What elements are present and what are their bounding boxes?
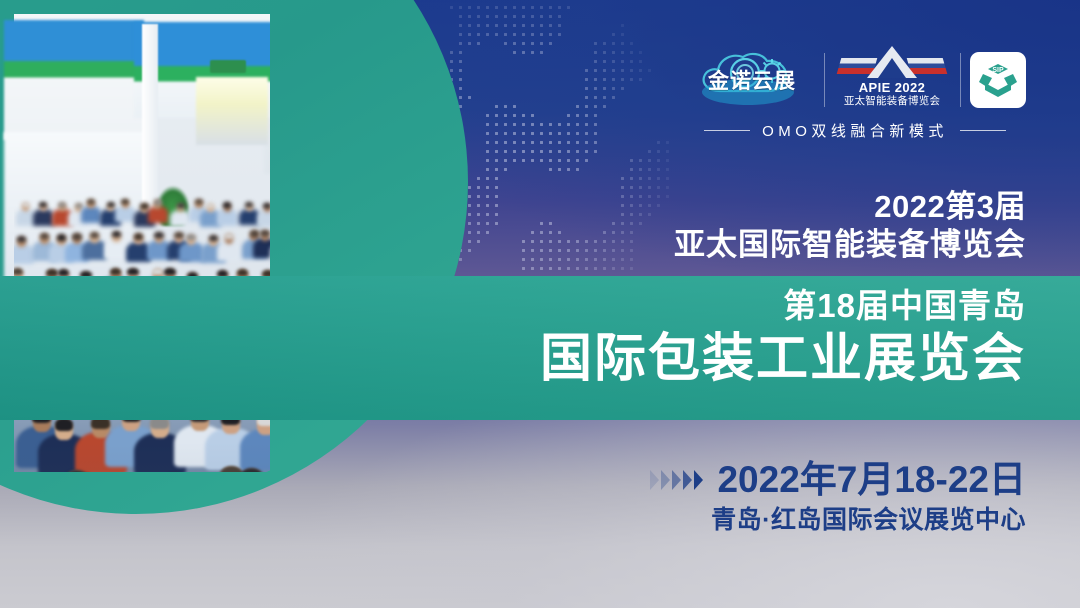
hall-doorway: [196, 77, 268, 145]
triangle-wings-icon: [839, 46, 945, 80]
event-date: 2022年7月18-22日: [717, 458, 1026, 502]
omo-tagline: OMO双线融合新模式: [762, 120, 948, 141]
logo-row: 金诺云展 APIE 2022 亚太智能装备博览会 SIP: [690, 44, 1026, 116]
sub-headline-line1: 2022第3届: [500, 188, 1026, 225]
jinnuo-cloud-expo-logo[interactable]: 金诺云展: [690, 47, 814, 113]
omo-tagline-row: OMO双线融合新模式: [680, 118, 1030, 142]
booth-left: [4, 20, 144, 140]
crowd-haze: [14, 442, 270, 472]
package-box-icon: SIP: [978, 60, 1018, 100]
apie-english-label: APIE 2022: [859, 80, 925, 95]
date-line: 2022年7月18-22日: [560, 458, 1026, 502]
svg-text:SIP: SIP: [992, 67, 1004, 74]
apie-chinese-label: 亚太智能装备博览会: [844, 95, 940, 108]
logo-divider-2: [960, 53, 961, 107]
omo-rule-left: [704, 130, 750, 131]
main-title: 第18届中国青岛 国际包装工业展览会: [430, 286, 1026, 390]
event-venue: 青岛·红岛国际会议展览中心: [560, 504, 1026, 537]
packaging-expo-logo[interactable]: SIP: [970, 52, 1026, 108]
jinnuo-cloud-expo-label: 金诺云展: [708, 65, 796, 95]
chevron-right-icon: [650, 470, 703, 490]
event-poster: 金诺云展 APIE 2022 亚太智能装备博览会 SIP: [0, 0, 1080, 608]
logo-divider-1: [824, 53, 825, 107]
sub-headline-line2: 亚太国际智能装备博览会: [500, 225, 1026, 265]
main-title-line1: 第18届中国青岛: [430, 286, 1026, 326]
apie-logo[interactable]: APIE 2022 亚太智能装备博览会: [834, 46, 950, 114]
apie-triangle-inner: [878, 58, 906, 78]
exit-sign: [210, 60, 246, 73]
schedule-block: 2022年7月18-22日 青岛·红岛国际会议展览中心: [560, 458, 1026, 537]
sub-headline: 2022第3届 亚太国际智能装备博览会: [500, 188, 1026, 265]
omo-rule-right: [960, 130, 1006, 131]
main-title-line2: 国际包装工业展览会: [430, 328, 1026, 390]
